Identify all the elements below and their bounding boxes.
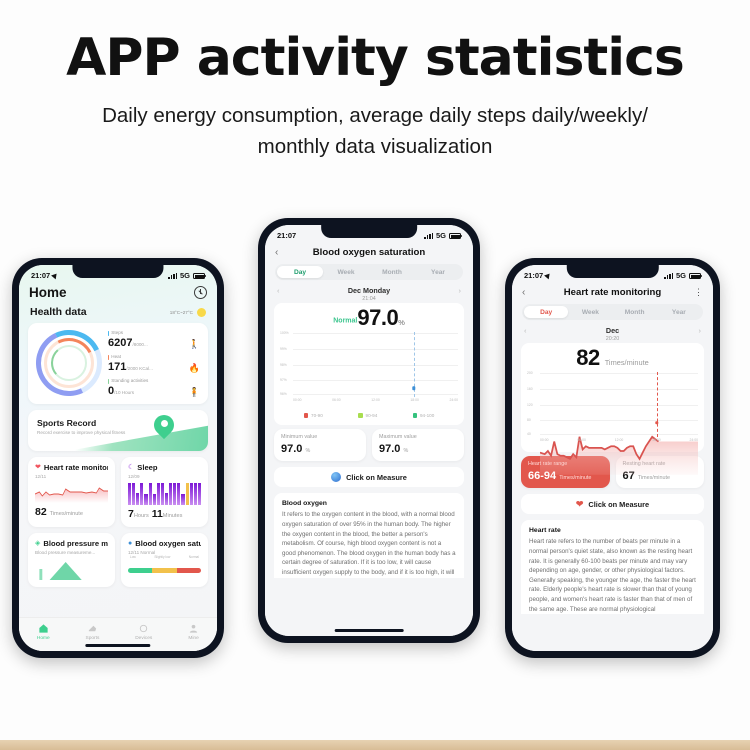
legend-swatch-0: [304, 413, 308, 417]
status-network: 5G: [436, 231, 446, 240]
metric-steps-sub: /8000...: [132, 342, 147, 347]
segment-month[interactable]: Month: [369, 266, 415, 278]
heart-rate-unit: Times/minute: [605, 358, 649, 367]
battery-icon: [689, 273, 701, 279]
metric-heat: Heat 171/2000 KCal... 🔥: [108, 354, 200, 373]
date-navigator: ‹ Dec Monday ›: [265, 286, 473, 295]
heart-icon: ❤: [35, 463, 41, 471]
heart-rate-plot: 200 160 120 80 40: [527, 372, 698, 448]
hr-ytick-0: 200: [527, 371, 533, 375]
legend-label-1: 90-94: [366, 413, 378, 418]
legend-label-2: 94-100: [420, 413, 434, 418]
health-data-title: Health data: [30, 306, 87, 318]
metric-heat-value: 171: [108, 361, 126, 373]
tab-mine[interactable]: Mine: [188, 623, 199, 641]
blood-pressure-card-title: Blood pressure mon: [43, 539, 108, 548]
legend-item-0: 70-90: [304, 413, 323, 418]
spo2-info-title: Blood oxygen: [282, 500, 456, 507]
phones-row: 21:07 5G Home Health data: [0, 200, 750, 670]
legend-swatch-1: [358, 413, 362, 417]
blood-oxygen-scale-labels: Low Slightly low Normal: [128, 555, 201, 559]
phone-right-screen: 21:07 5G ‹ Heart rate monitoring ⋮: [512, 265, 713, 651]
spo2-measure-button[interactable]: Click on Measure: [274, 467, 464, 487]
weather-widget: 18°C~27°C: [170, 308, 206, 317]
page-root: APP activity statistics Daily energy con…: [0, 0, 750, 750]
spo2-status: Normal: [333, 317, 357, 324]
spo2-legend: 70-90 90-94 94-100: [280, 408, 458, 421]
metric-heat-sub: /2000 KCal...: [126, 366, 153, 371]
app-title: Blood oxygen saturation: [287, 247, 451, 258]
legend-label-0: 70-90: [311, 413, 323, 418]
sleep-card-title: Sleep: [137, 463, 157, 472]
spo2-ytick-4: 96%: [280, 392, 287, 396]
notch: [72, 265, 163, 278]
page-header: APP activity statistics Daily energy con…: [0, 0, 750, 162]
hr-xtick-2: 12:00: [615, 438, 624, 448]
app-header: ‹ Blood oxygen saturation: [265, 243, 473, 264]
metric-steps-value: 6207: [108, 337, 132, 349]
watch-icon: [138, 623, 149, 634]
page-subtitle-line1: Daily energy consumption, average daily …: [0, 101, 750, 131]
status-network: 5G: [676, 271, 686, 280]
spo2-xtick-4: 24:00: [450, 398, 459, 408]
hr-info-text: Heart rate refers to the number of beats…: [529, 537, 696, 614]
metric-steps: Steps 6207/8000... 🚶: [108, 330, 200, 349]
spo2-gridlines: [293, 332, 458, 397]
next-date-button[interactable]: ›: [459, 286, 462, 295]
mini-card-row-1: ❤ Heart rate monitoring 12/11: [28, 457, 208, 527]
period-segmented-control[interactable]: Day Week Month Year: [275, 264, 463, 280]
segment-day[interactable]: Day: [277, 266, 323, 278]
location-arrow-icon: [544, 272, 552, 280]
tab-sports-label: Sports: [86, 636, 100, 641]
map-pin-icon: [154, 415, 174, 439]
segment-year[interactable]: Year: [657, 306, 701, 318]
status-left: 21:07: [277, 231, 296, 240]
segment-week[interactable]: Week: [323, 266, 369, 278]
metric-standing: Standing activities 0/10 Hours 🧍: [108, 378, 200, 397]
spo2-maximum-label: Maximum value: [379, 434, 457, 441]
notch: [321, 225, 417, 238]
spo2-minimum-label: Minimum value: [281, 434, 359, 441]
oxygen-icon: ●: [128, 540, 132, 547]
tab-devices-label: Devices: [135, 636, 152, 641]
metric-heat-label: Heat: [111, 354, 121, 361]
phone-left: 21:07 5G Home Health data: [12, 258, 224, 658]
metric-heat-tick: [108, 355, 109, 360]
hr-measure-button[interactable]: ❤ Click on Measure: [521, 494, 704, 514]
spo2-unit: %: [398, 318, 405, 327]
hr-y-axis: 200 160 120 80 40: [527, 372, 540, 437]
mini-card-row-2: ◈ Blood pressure mon Blood pressure meas…: [28, 533, 208, 587]
sleep-card-date: 12/09: [128, 474, 201, 479]
home-title-row: Home: [28, 283, 208, 306]
sleep-card-minutes: 11: [152, 508, 163, 520]
spo2-ytick-3: 97%: [280, 378, 287, 382]
location-arrow-icon: [51, 272, 59, 280]
spo2-minimum-card: Minimum value 97.0 %: [274, 429, 366, 461]
spo2-chart-card: Normal97.0% 100% 99% 98% 97% 96%: [274, 303, 464, 425]
hr-resting-unit: Times/minute: [638, 475, 670, 481]
oxygen-icon: [331, 472, 341, 482]
hr-ytick-3: 80: [527, 418, 531, 422]
segment-week[interactable]: Week: [568, 306, 612, 318]
spo2-y-axis: 100% 99% 98% 97% 96%: [280, 332, 293, 397]
hr-xtick-4: 24:00: [690, 438, 699, 448]
phone-right: 21:07 5G ‹ Heart rate monitoring ⋮: [505, 258, 720, 658]
spo2-minimum-unit: %: [305, 448, 310, 454]
heart-rate-value: 82: [576, 345, 599, 370]
heart-rate-card-unit: Times/minute: [50, 511, 83, 517]
weather-temp: 18°C~27°C: [170, 310, 193, 315]
home-nav-title: Home: [29, 285, 67, 300]
plus-circle-icon[interactable]: [194, 286, 207, 299]
spo2-maximum-card: Maximum value 97.0 %: [372, 429, 464, 461]
kebab-menu-icon[interactable]: ⋮: [691, 287, 703, 298]
legend-item-2: 94-100: [413, 413, 435, 418]
chevron-left-icon[interactable]: ‹: [522, 287, 534, 298]
heart-rate-chart-card: 82Times/minute 200 160 120 80 40: [521, 343, 704, 452]
spo2-xtick-0: 00:00: [293, 398, 302, 408]
blood-pressure-card[interactable]: ◈ Blood pressure mon Blood pressure meas…: [28, 533, 115, 587]
next-date-button[interactable]: ›: [699, 326, 702, 335]
heart-rate-card-value: 82: [35, 506, 47, 518]
spo2-maximum-value: 97.0: [379, 443, 400, 455]
status-right: 5G: [664, 271, 701, 280]
flame-icon: 🔥: [189, 364, 200, 373]
spo2-measure-label: Click on Measure: [346, 473, 407, 482]
hr-info-title: Heart rate: [529, 527, 696, 534]
metric-standing-sub: /10 Hours: [114, 390, 134, 395]
sleep-card-hours-unit: Hours: [134, 513, 149, 519]
bo-tick-2: Normal: [189, 555, 199, 559]
segment-year[interactable]: Year: [415, 266, 461, 278]
legend-item-1: 90-94: [358, 413, 377, 418]
signal-bars-icon: [424, 233, 433, 239]
blood-oxygen-card-title: Blood oxygen satur: [135, 539, 201, 548]
date-label: Dec: [606, 326, 619, 335]
blood-pressure-art: [35, 560, 108, 580]
prev-date-button[interactable]: ‹: [277, 286, 280, 295]
home-icon: [38, 623, 49, 634]
spo2-ytick-1: 99%: [280, 347, 287, 351]
home-indicator: [335, 629, 404, 632]
spo2-info-text: It refers to the oxygen content in the b…: [282, 510, 456, 577]
hr-range-unit: Times/minute: [559, 475, 591, 481]
spo2-plot: 100% 99% 98% 97% 96%: [280, 332, 458, 408]
shoe-icon: [87, 623, 98, 634]
hr-x-axis: 00:00 06:00 12:00 18:00 24:00: [540, 438, 698, 448]
signal-bars-icon: [664, 273, 673, 279]
tab-home-label: Home: [37, 636, 50, 641]
sports-record-card[interactable]: Sports Record Record exercise to improve…: [28, 410, 208, 451]
date-navigator: ‹ Dec ›: [512, 326, 713, 335]
metric-standing-tick: [108, 379, 109, 384]
page-subtitle-line2: monthly data visualization: [0, 132, 750, 162]
heart-rate-card-title: Heart rate monitoring: [44, 463, 108, 472]
home-content: Home Health data 18°C~27°C: [19, 283, 217, 587]
hr-ytick-1: 160: [527, 387, 533, 391]
spo2-reading: Normal97.0%: [280, 307, 458, 329]
period-segmented-control[interactable]: Day Week Month Year: [522, 304, 703, 320]
moon-icon: ☾: [128, 463, 134, 471]
tab-mine-label: Mine: [188, 636, 198, 641]
metric-steps-tick: [108, 331, 109, 336]
status-time: 21:07: [277, 231, 296, 240]
app-header: ‹ Heart rate monitoring ⋮: [512, 283, 713, 304]
status-right: 5G: [168, 271, 205, 280]
page-title: APP activity statistics: [0, 30, 750, 87]
status-left: 21:07: [524, 271, 551, 280]
person-icon: [188, 623, 199, 634]
heart-rate-reading: 82Times/minute: [527, 347, 698, 369]
chevron-left-icon[interactable]: ‹: [275, 247, 287, 258]
activity-rings: [36, 330, 102, 396]
sun-icon: [197, 308, 206, 317]
spo2-stat-cards: Minimum value 97.0 % Maximum value 97.0 …: [274, 429, 464, 461]
notch: [566, 265, 658, 278]
page-subtitle: Daily energy consumption, average daily …: [0, 101, 750, 162]
status-time: 21:07: [524, 271, 543, 280]
standing-icon: 🧍: [189, 388, 200, 397]
hr-xtick-3: 18:00: [652, 438, 661, 448]
floor-strip: [0, 740, 750, 750]
status-time: 21:07: [31, 271, 50, 280]
tab-sports[interactable]: Sports: [86, 623, 100, 641]
blood-pressure-card-sub: Blood pressure measureme...: [35, 550, 108, 555]
signal-bars-icon: [168, 273, 177, 279]
battery-icon: [449, 233, 461, 239]
sleep-bar-chart: [128, 483, 201, 505]
hr-xtick-0: 00:00: [540, 438, 549, 448]
metric-list: Steps 6207/8000... 🚶: [108, 330, 200, 397]
phone-left-screen: 21:07 5G Home Health data: [19, 265, 217, 651]
app-title: Heart rate monitoring: [534, 287, 691, 298]
reading-time: 21:04: [265, 296, 473, 302]
health-data-section-header: Health data 18°C~27°C: [28, 306, 208, 323]
spo2-minimum-value: 97.0: [281, 443, 302, 455]
hr-series-path: [540, 372, 698, 475]
walking-icon: 🚶: [189, 340, 200, 349]
hr-info-card: Heart rate Heart rate refers to the numb…: [521, 520, 704, 614]
spo2-ytick-2: 98%: [280, 363, 287, 367]
segment-month[interactable]: Month: [613, 306, 657, 318]
hr-measure-label: Click on Measure: [588, 500, 649, 509]
spo2-ytick-0: 100%: [280, 331, 289, 335]
battery-icon: [193, 273, 205, 279]
metric-steps-label: Steps: [111, 330, 123, 337]
sleep-card-minutes-unit: Minutes: [163, 513, 183, 519]
segment-day[interactable]: Day: [524, 306, 568, 318]
health-summary-card[interactable]: Steps 6207/8000... 🚶: [28, 323, 208, 404]
spo2-xtick-1: 06:00: [332, 398, 341, 408]
bo-tick-1: Slightly low: [154, 555, 170, 559]
blood-oxygen-card[interactable]: ● Blood oxygen satur 12/11 Normal Low Sl…: [121, 533, 208, 587]
metric-standing-label: Standing activities: [111, 378, 148, 385]
hr-ytick-4: 40: [527, 432, 531, 436]
sleep-card[interactable]: ☾ Sleep 12/09: [121, 457, 208, 527]
phone-center-screen: 21:07 5G ‹ Blood oxygen saturation: [265, 225, 473, 636]
status-network: 5G: [180, 271, 190, 280]
date-label: Dec Monday: [348, 286, 390, 295]
spo2-maximum-unit: %: [403, 448, 408, 454]
heart-icon: ❤: [576, 500, 584, 509]
droplet-icon: ◈: [35, 539, 40, 547]
sports-record-title: Sports Record: [37, 418, 199, 428]
blood-oxygen-scale-bar: [128, 568, 201, 573]
status-right: 5G: [424, 231, 461, 240]
tab-home[interactable]: Home: [37, 623, 50, 641]
hr-marker-line: [657, 372, 658, 437]
spo2-xtick-3: 18:00: [410, 398, 419, 408]
home-indicator: [85, 644, 150, 647]
prev-date-button[interactable]: ‹: [524, 326, 527, 335]
reading-time: 20:20: [512, 336, 713, 342]
spo2-xtick-2: 12:00: [371, 398, 380, 408]
hr-ytick-2: 120: [527, 403, 533, 407]
spo2-value: 97.0: [357, 305, 398, 330]
heart-rate-card[interactable]: ❤ Heart rate monitoring 12/11: [28, 457, 115, 527]
tab-devices[interactable]: Devices: [135, 623, 152, 641]
heart-rate-card-date: 12/11: [35, 474, 108, 479]
spo2-x-axis: 00:00 06:00 12:00 18:00 24:00: [293, 398, 458, 408]
phone-center: 21:07 5G ‹ Blood oxygen saturation: [258, 218, 480, 643]
status-left: 21:07: [31, 271, 58, 280]
hr-xtick-1: 06:00: [577, 438, 586, 448]
bo-tick-0: Low: [130, 555, 136, 559]
heart-rate-sparkline: [35, 483, 108, 503]
legend-swatch-2: [413, 413, 417, 417]
spo2-info-card: Blood oxygen It refers to the oxygen con…: [274, 493, 464, 577]
